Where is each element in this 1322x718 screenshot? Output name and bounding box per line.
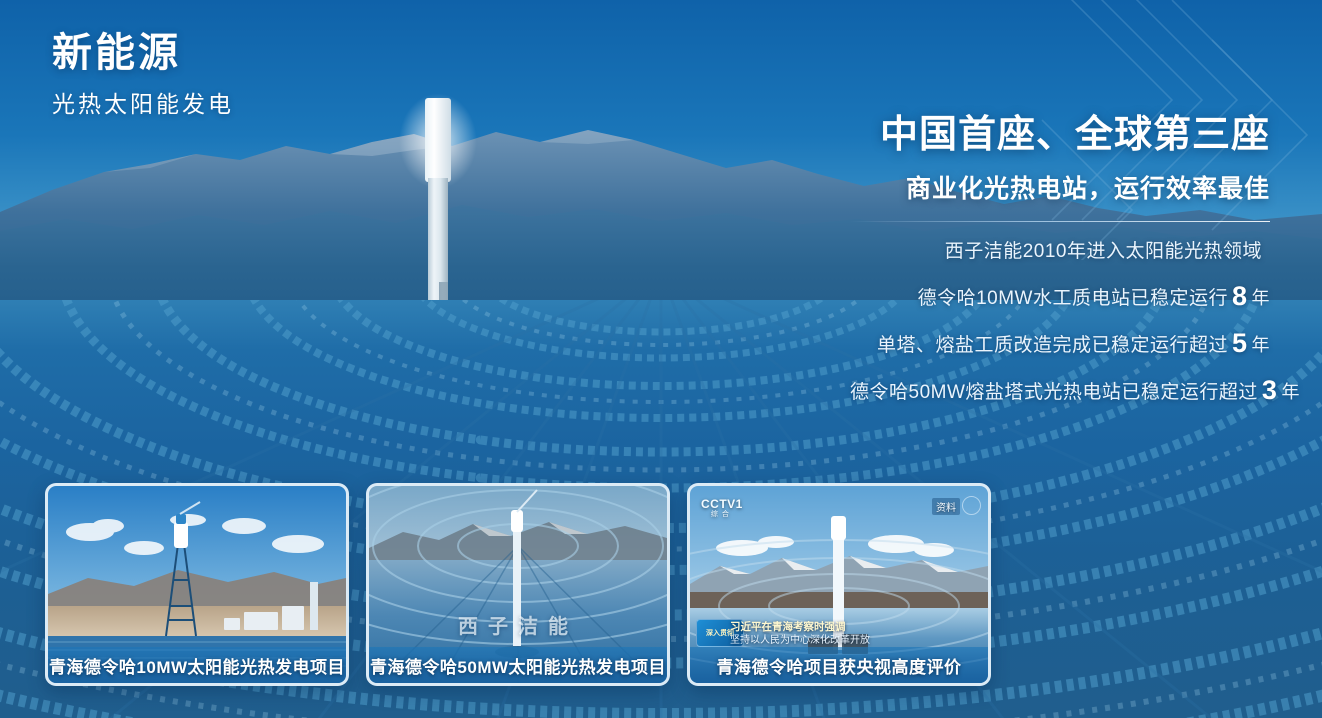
panel-bullet-list: 西子洁能2010年进入太阳能光热领域 德令哈10MW水工质电站已稳定运行8年 单…: [850, 236, 1270, 404]
bullet-number: [1262, 234, 1270, 264]
bullet-number: 5: [1228, 328, 1252, 358]
bullet-item: 德令哈50MW熔盐塔式光热电站已稳定运行超过3年: [850, 377, 1270, 404]
brand-title: 新能源: [52, 30, 234, 77]
bullet-unit: 年: [1252, 288, 1271, 308]
bullet-item: 西子洁能2010年进入太阳能光热领域: [850, 236, 1270, 263]
cctv-number: 1: [736, 497, 743, 511]
tower-receiver: [425, 98, 451, 182]
brand-heading: 新能源 光热太阳能发电: [52, 30, 234, 119]
panel-divider: [850, 221, 1270, 222]
info-panel: 中国首座、全球第三座 商业化光热电站，运行效率最佳 西子洁能2010年进入太阳能…: [850, 112, 1270, 424]
thumbnail-card[interactable]: 青海德令哈10MW太阳能光热发电项目: [45, 483, 349, 686]
bullet-text: 单塔、熔盐工质改造完成已稳定运行超过: [877, 335, 1228, 356]
thumbnail-caption: 青海德令哈项目获央视高度评价: [690, 647, 988, 683]
bullet-text: 西子洁能2010年进入太阳能光热领域: [945, 241, 1262, 262]
brand-subtitle: 光热太阳能发电: [52, 85, 234, 119]
cctv-sub: 综合: [701, 511, 743, 518]
bullet-unit: 年: [1281, 382, 1300, 402]
bullet-number: 8: [1228, 281, 1252, 311]
bullet-item: 德令哈10MW水工质电站已稳定运行8年: [850, 283, 1270, 310]
bullet-text: 德令哈10MW水工质电站已稳定运行: [918, 288, 1228, 309]
slide-root: 新能源 光热太阳能发电 中国首座、全球第三座 商业化光热电站，运行效率最佳 西子…: [0, 0, 1322, 718]
clock-icon: [962, 496, 981, 515]
archive-badge: 资料: [932, 498, 960, 515]
bullet-text: 德令哈50MW熔盐塔式光热电站已稳定运行超过: [850, 382, 1258, 403]
cctv-name: CCTV: [701, 497, 736, 511]
panel-subhead: 商业化光热电站，运行效率最佳: [850, 169, 1270, 205]
panel-headline: 中国首座、全球第三座: [850, 112, 1270, 160]
thumbnail-watermark: 西子洁能: [458, 610, 578, 639]
thumbnail-card[interactable]: 西子洁能 青海德令哈50MW太阳能光热发电项目: [366, 483, 670, 686]
ticker-line-2: 坚持以人民为中心深化改革开放: [730, 635, 945, 648]
thumbnail-caption: 青海德令哈50MW太阳能光热发电项目: [369, 647, 667, 683]
thumbnail-gallery: 青海德令哈10MW太阳能光热发电项目: [45, 483, 991, 686]
ticker-line-1: 习近平在青海考察时强调: [730, 621, 945, 634]
bullet-item: 单塔、熔盐工质改造完成已稳定运行超过5年: [850, 330, 1270, 357]
cctv-channel-logo: CCTV1 综合: [701, 498, 743, 518]
thumbnail-card[interactable]: CCTV1 综合 资料 深入贯彻 习近平在青海考察时强调 坚持以人民为中心深化改…: [687, 483, 991, 686]
bullet-unit: 年: [1252, 335, 1271, 355]
bullet-number: 3: [1258, 375, 1282, 405]
thumbnail-caption: 青海德令哈10MW太阳能光热发电项目: [48, 647, 346, 683]
news-ticker: 习近平在青海考察时强调 坚持以人民为中心深化改革开放: [730, 621, 945, 647]
